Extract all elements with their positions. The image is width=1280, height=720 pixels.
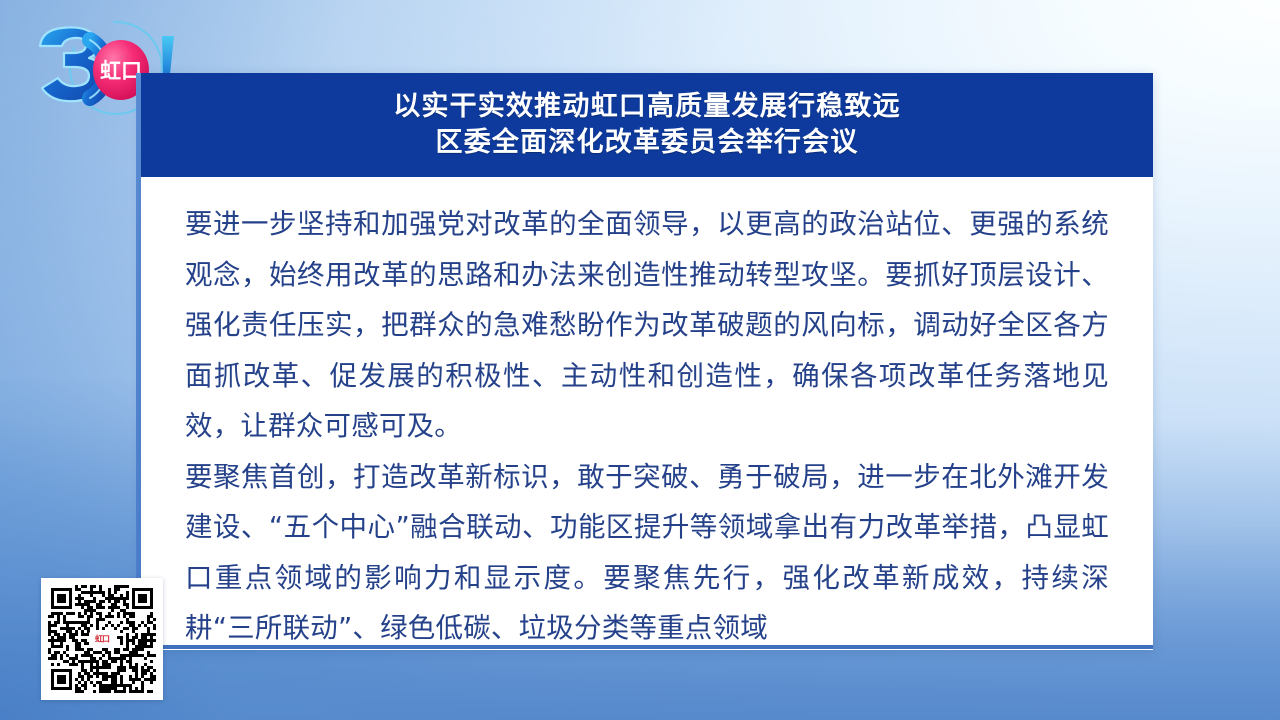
news-card: 以实干实效推动虹口高质量发展行稳致远 区委全面深化改革委员会举行会议 要进一步坚… [141,73,1153,650]
headline-banner: 以实干实效推动虹口高质量发展行稳致远 区委全面深化改革委员会举行会议 [141,73,1153,177]
scan-qr-code[interactable]: 虹口 [41,578,163,700]
logo-exclamation-bar [162,36,174,74]
headline-line-2: 区委全面深化改革委员会举行会议 [436,125,859,161]
card-bottom-rule [141,645,1153,649]
article-paragraph: 要聚焦首创，打造改革新标识，敢于突破、勇于破局，进一步在北外滩开发建设、“五个中… [185,452,1109,654]
headline-line-1: 以实干实效推动虹口高质量发展行稳致远 [393,89,901,125]
article-paragraph: 要进一步坚持和加强党对改革的全面领导，以更高的政治站位、更强的系统观念，始终用改… [185,199,1109,452]
article-body: 要进一步坚持和加强党对改革的全面领导，以更高的政治站位、更强的系统观念，始终用改… [141,177,1153,650]
qr-center-logo: 虹口 [89,633,115,646]
